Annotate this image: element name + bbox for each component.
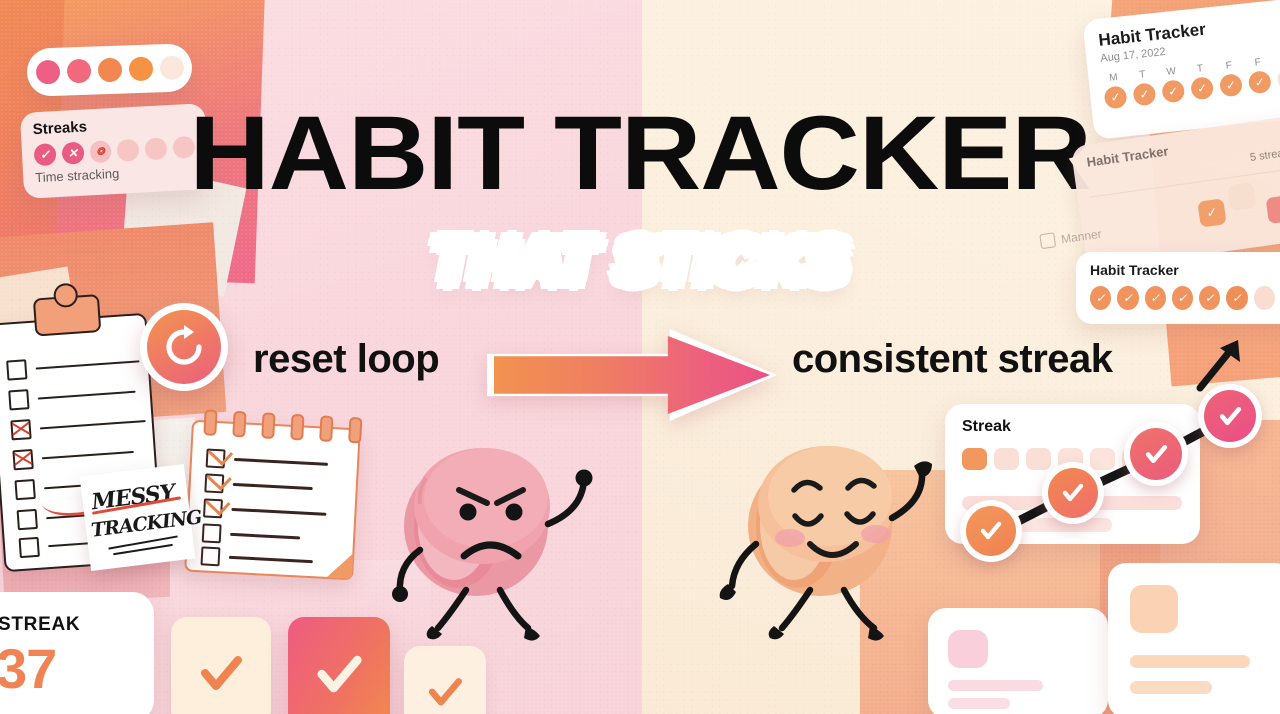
- poster-canvas: Streaks ✓ ✕ ❂ Time stracking: [0, 0, 1280, 714]
- checkbox-crossed: [10, 419, 31, 440]
- day-empty-icon[interactable]: [1277, 67, 1280, 91]
- list-line: [233, 483, 313, 489]
- placeholder-bar: [1130, 655, 1250, 668]
- habit-square-active[interactable]: [1265, 195, 1280, 224]
- streak-counter-value: 37: [0, 636, 56, 701]
- day-check-icon[interactable]: ✓: [1132, 82, 1156, 106]
- streak-counter-card: STREAK 37: [0, 592, 154, 714]
- day-label: T: [1131, 68, 1154, 81]
- streaks-count-label: 5 streaks: [1249, 146, 1280, 164]
- trend-check-node[interactable]: [1042, 462, 1104, 524]
- page-fold-corner: [326, 552, 353, 579]
- progress-dot: [128, 57, 153, 82]
- check-icon[interactable]: ✓: [1090, 286, 1111, 310]
- list-line: [229, 556, 313, 563]
- streak-square-empty[interactable]: [1090, 448, 1115, 470]
- list-line: [42, 451, 134, 460]
- checkbox-empty: [8, 389, 29, 410]
- check-icon: [424, 670, 466, 712]
- after-label: consistent streak: [792, 337, 1113, 382]
- day-check-icon[interactable]: ✓: [1103, 85, 1127, 109]
- day-check-icon[interactable]: ✓: [1161, 79, 1185, 103]
- streak-square-active[interactable]: [962, 448, 987, 470]
- checkbox-crossed: [12, 449, 33, 470]
- empty-dot[interactable]: [1254, 286, 1275, 310]
- check-card-cream[interactable]: [171, 617, 271, 714]
- checkbox-empty: [17, 509, 38, 530]
- happy-macaron-character: [700, 398, 950, 648]
- day-check-icon[interactable]: ✓: [1190, 76, 1214, 100]
- progress-dot: [35, 60, 60, 85]
- streak-counter-label: STREAK: [0, 614, 80, 636]
- habit-tracker-dots-row: ✓ ✓ ✓ ✓ ✓ ✓: [1090, 286, 1280, 310]
- check-icon[interactable]: ✓: [1172, 286, 1193, 310]
- placeholder-card-peach[interactable]: [1108, 563, 1280, 714]
- day-label: T: [1189, 62, 1212, 75]
- trend-check-node[interactable]: [1198, 384, 1262, 448]
- messy-tracking-note: MESSY TRACKING: [80, 464, 196, 571]
- list-line: [38, 391, 136, 400]
- streak-card-title: Streak: [962, 418, 1011, 436]
- reset-loop-badge: [140, 303, 228, 391]
- placeholder-bar: [948, 680, 1043, 691]
- calendar-icon: [1039, 232, 1056, 249]
- checkbox-empty: [14, 479, 35, 500]
- list-line: [36, 360, 140, 369]
- check-icon[interactable]: ✓: [1117, 286, 1138, 310]
- checkbox-empty: [202, 523, 222, 543]
- progress-dot: [97, 58, 122, 83]
- day-label: F: [1246, 56, 1269, 69]
- list-line: [231, 508, 326, 515]
- progress-dots-pill: [26, 43, 193, 97]
- progress-dot: [66, 59, 91, 84]
- streak-square-empty[interactable]: [994, 448, 1019, 470]
- day-check-icon[interactable]: ✓: [1219, 73, 1243, 97]
- check-icon[interactable]: ✓: [1199, 286, 1220, 310]
- before-label: reset loop: [253, 337, 439, 382]
- placeholder-icon-box: [1130, 585, 1178, 633]
- habit-tracker-bottom-title: Habit Tracker: [1090, 262, 1280, 278]
- day-label: M: [1102, 71, 1125, 84]
- day-label: W: [1160, 65, 1183, 78]
- placeholder-bar: [948, 698, 1010, 709]
- reset-loop-icon: [147, 310, 221, 384]
- habit-tracker-card-top[interactable]: Habit Tracker Aug 17, 2022 › M✓ T✓ W✓ T✓…: [1082, 0, 1280, 140]
- trend-arrow-up-icon: [1196, 336, 1242, 392]
- arrow-right-icon: [487, 329, 777, 421]
- check-icon: [195, 646, 247, 698]
- checkbox-empty: [19, 537, 40, 558]
- checkbox-empty: [200, 546, 220, 566]
- list-line: [230, 533, 300, 539]
- angry-macaron-character: [358, 398, 618, 648]
- trend-check-node[interactable]: [960, 500, 1022, 562]
- check-card-pale[interactable]: [404, 646, 486, 714]
- trend-check-node[interactable]: [1124, 422, 1188, 486]
- day-label: F: [1217, 59, 1240, 72]
- check-icon: [311, 645, 367, 701]
- day-check-icon[interactable]: ✓: [1248, 70, 1272, 94]
- check-icon[interactable]: ✓: [1226, 286, 1247, 310]
- checkbox-empty: [6, 359, 27, 380]
- placeholder-icon-box: [948, 630, 988, 668]
- day-label: S: [1275, 53, 1280, 66]
- checkbox-checked: [203, 498, 223, 518]
- streak-square-empty[interactable]: [1026, 448, 1051, 470]
- subtitle-sticker-text: THAT STICKS: [410, 222, 870, 301]
- spiral-notepad-checklist: [184, 420, 361, 581]
- list-line: [234, 458, 328, 465]
- check-card-gradient[interactable]: [288, 617, 390, 714]
- check-icon[interactable]: ✓: [1145, 286, 1166, 310]
- habit-tracker-card-bottom[interactable]: Habit Tracker ✓ ✓ ✓ ✓ ✓ ✓: [1076, 252, 1280, 324]
- habit-square-checked[interactable]: ✓: [1197, 198, 1226, 227]
- progress-dot: [159, 55, 184, 80]
- habit-square-empty[interactable]: [1227, 182, 1256, 211]
- placeholder-card-pink[interactable]: [928, 608, 1108, 714]
- list-line: [40, 420, 146, 430]
- placeholder-bar: [1130, 681, 1212, 694]
